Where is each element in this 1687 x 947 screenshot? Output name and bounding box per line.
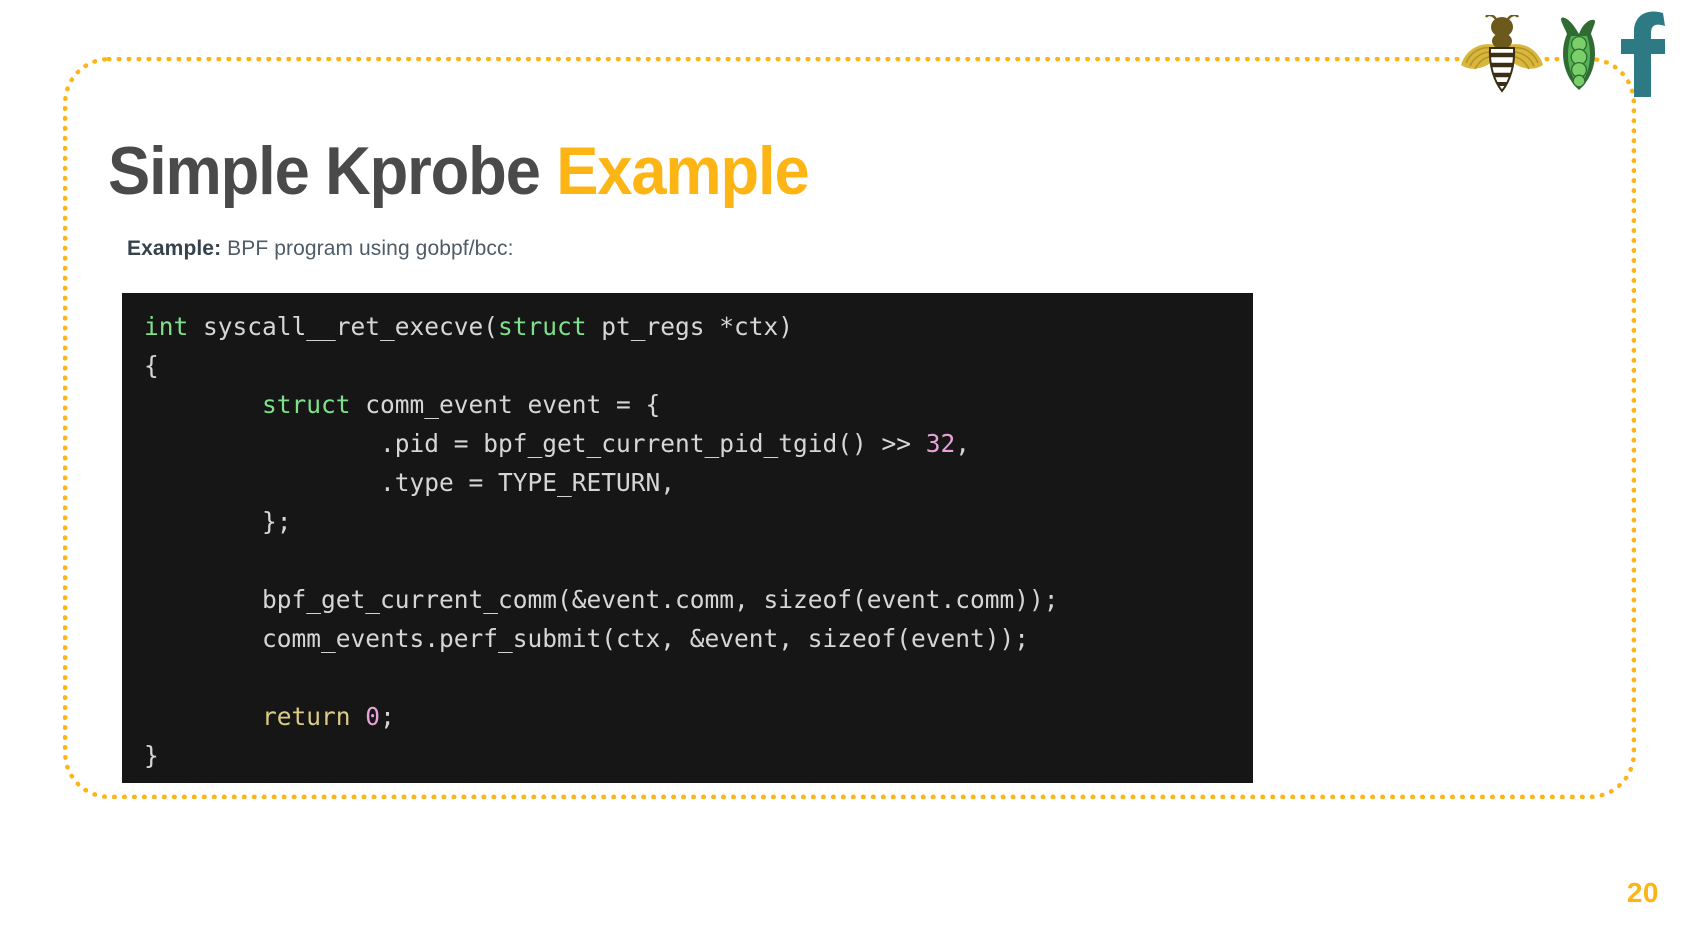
code-token: syscall__ret_execve( <box>188 312 498 341</box>
code-token <box>144 390 262 419</box>
code-token: } <box>144 741 159 770</box>
code-token: return <box>262 702 351 731</box>
slide: Simple Kprobe Example Example: BPF progr… <box>0 0 1687 947</box>
code-token: , <box>955 429 970 458</box>
code-token: 0 <box>365 702 380 731</box>
code-token: }; <box>144 507 292 536</box>
code-token: .type = TYPE_RETURN, <box>144 468 675 497</box>
code-token: int <box>144 312 188 341</box>
pea-pod-icon <box>1551 14 1607 94</box>
bpf-logo <box>1424 8 1669 100</box>
example-caption: Example: BPF program using gobpf/bcc: <box>127 237 514 261</box>
caption-text: BPF program using gobpf/bcc: <box>221 237 513 260</box>
code-token: pt_regs *ctx) <box>587 312 794 341</box>
code-token: struct <box>498 312 587 341</box>
code-token: comm_events.perf_submit(ctx, &event, siz… <box>144 624 1029 653</box>
caption-label: Example: <box>127 237 221 260</box>
bee-icon <box>1459 15 1545 93</box>
code-token: comm_event event = { <box>351 390 661 419</box>
logo-letter-f <box>1613 9 1669 99</box>
page-number: 20 <box>1627 877 1659 909</box>
code-content: int syscall__ret_execve(struct pt_regs *… <box>122 307 1253 775</box>
code-block: int syscall__ret_execve(struct pt_regs *… <box>122 293 1253 783</box>
code-token <box>351 702 366 731</box>
page-title-main: Simple Kprobe <box>108 133 556 209</box>
code-token: ; <box>380 702 395 731</box>
code-token: 32 <box>926 429 956 458</box>
code-token: bpf_get_current_comm(&event.comm, sizeof… <box>144 585 1059 614</box>
code-token: { <box>144 351 159 380</box>
code-token: .pid = bpf_get_current_pid_tgid() >> <box>144 429 926 458</box>
code-token: struct <box>262 390 351 419</box>
page-title: Simple Kprobe Example <box>108 136 809 207</box>
page-title-accent: Example <box>556 133 808 209</box>
code-token <box>144 702 262 731</box>
